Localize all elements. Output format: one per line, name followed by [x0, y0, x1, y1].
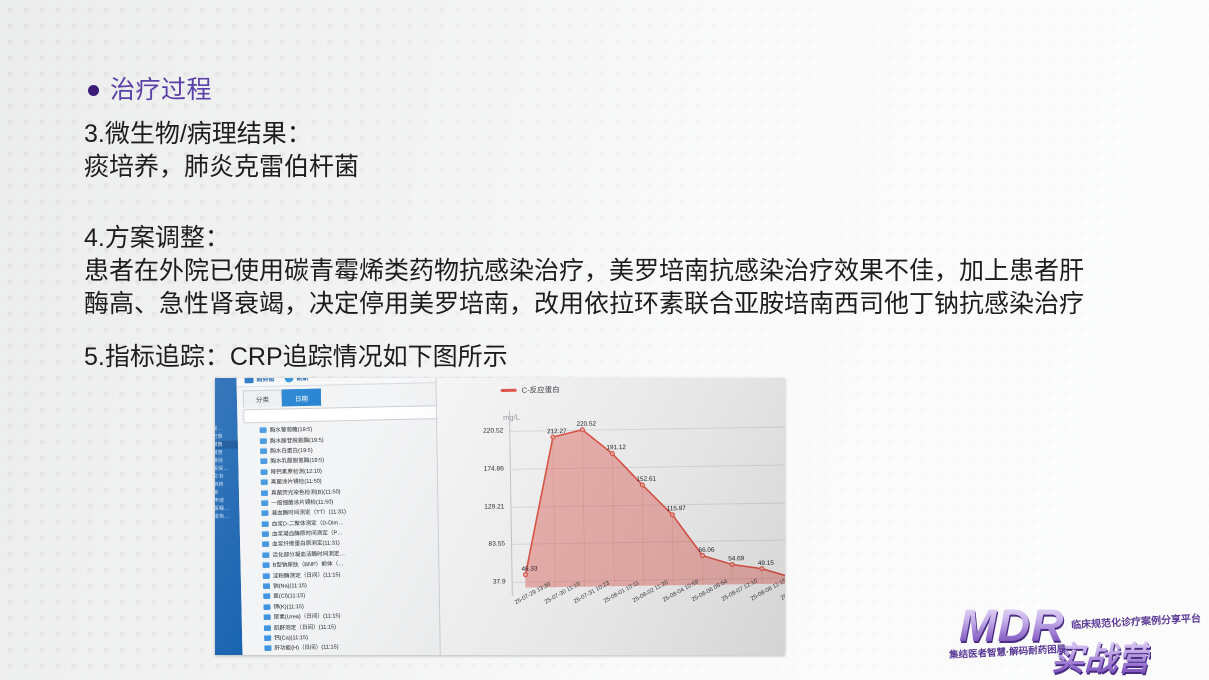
folder-icon	[262, 521, 269, 527]
logo-name-text: 实战营	[1051, 632, 1150, 680]
chart-plot-area: 37.983.55129.21174.86220.52 46.33212.272…	[509, 406, 785, 625]
tree-item-label: 真菌荧光染色检测(B)(11:50)	[271, 487, 341, 497]
folder-icon	[263, 593, 270, 599]
data-label: 49.15	[758, 559, 774, 566]
legend-line-icon	[501, 389, 517, 392]
folder-icon	[261, 489, 268, 495]
data-label: 66.06	[698, 546, 714, 553]
tree-item-label: 钠(Na)(11:15)	[273, 581, 307, 590]
tree-item-label: 尿素(Urea)（日间）(11:15)	[274, 612, 341, 621]
y-axis: 37.983.55129.21174.86220.52	[469, 411, 510, 597]
tree-item-label: 淀粉酶测定（日间）(11:15)	[273, 570, 341, 579]
tree-item-label: 血浆D-二聚体测定（D-Dim…	[272, 518, 344, 528]
tree-item-label: 降钙素原检测(12:10)	[270, 466, 321, 475]
tree-item-label: 胸水白蛋白(19:5)	[270, 446, 313, 455]
tree-item-label: 肝功能(H)（日间）(11:15)	[274, 643, 338, 652]
data-label: 54.69	[728, 555, 744, 562]
folder-icon	[264, 614, 271, 620]
folder-icon	[264, 624, 271, 630]
trend-chart-button[interactable]: 趋势图	[244, 378, 274, 383]
section-3-micro-pathology: 3.微生物/病理结果： 痰培养，肺炎克雷伯杆菌	[84, 118, 359, 184]
tree-item-label: 胸水葡萄糖(19:5)	[270, 425, 313, 434]
data-label: 220.52	[576, 421, 596, 428]
folder-icon	[262, 531, 269, 537]
section-4-regimen-adjustment: 4.方案调整： 患者在外院已使用碳青霉烯类药物抗感染治疗，美罗培南抗感染治疗效果…	[84, 222, 1084, 321]
x-axis-labels: 25-07-29 13:3025-07-30 11:1925-07-31 10:…	[512, 594, 785, 639]
folder-icon	[260, 469, 267, 475]
folder-icon	[260, 437, 267, 443]
data-label: 115.97	[667, 506, 686, 513]
folder-icon	[261, 479, 268, 485]
tree-item-label: 氯(Cl)(11:15)	[273, 592, 305, 601]
folder-icon	[260, 448, 267, 454]
tree-item-label: 真菌涂片镜检(11:50)	[271, 477, 322, 486]
tab-category[interactable]: 分类	[243, 390, 282, 408]
refresh-icon	[284, 378, 293, 382]
y-axis-tick: 83.55	[488, 541, 505, 548]
tree-item-label: 凝血酶时间测定（TT）(11:31)	[271, 507, 346, 517]
tree-item-label: 一般细菌涂片镜检(11:50)	[271, 497, 333, 506]
folder-icon	[260, 427, 267, 433]
chart-icon	[244, 378, 253, 383]
tree-item-label: 心肌酶谱(天冬 AST)(11:15)	[275, 653, 342, 655]
tab-date[interactable]: 日期	[282, 389, 321, 407]
y-axis-tick: 174.86	[484, 465, 504, 472]
folder-icon	[264, 635, 271, 641]
y-axis-tick: 129.21	[484, 503, 504, 510]
data-label: 191.12	[606, 444, 626, 451]
folder-icon	[261, 510, 268, 516]
section-5-indicator-tracking: 5.指标追踪：CRP追踪情况如下图所示	[84, 341, 508, 374]
data-label: 152.61	[636, 476, 656, 483]
tree-item-label: 肌酐测定（日间）(11:15)	[274, 622, 336, 631]
folder-icon	[260, 458, 267, 464]
logo-tagline-right: 临床规范化诊疗案例分享平台	[1071, 610, 1202, 632]
tree-item-label: 血浆纤维蛋白原测定(11:31)	[272, 539, 340, 548]
y-axis-tick: 220.52	[483, 427, 503, 434]
section-heading: 治疗过程	[88, 78, 212, 103]
nav-item[interactable]: 病青报告…	[215, 512, 240, 521]
bullet-icon	[88, 85, 99, 96]
lis-screen-photo: 患者…信息医嘱病历诊断血常规…护理记录检验报告检查报告临床路径患者医保…护理文书…	[215, 378, 785, 655]
y-axis-tick: 37.9	[493, 578, 506, 585]
data-label: 212.27	[547, 428, 567, 435]
folder-icon	[263, 604, 270, 610]
legend-label: C-反应蛋白	[522, 384, 560, 396]
folder-icon	[263, 572, 270, 578]
folder-icon	[263, 562, 270, 568]
tree-item-label: 血浆凝血酶原时间测定（P…	[272, 528, 343, 538]
tree-item-label: 胸水乳酸脱氢酶(19:5)	[270, 456, 324, 465]
folder-icon	[263, 583, 270, 589]
data-label: 46.33	[521, 565, 537, 572]
chart-legend: C-反应蛋白	[501, 380, 785, 396]
folder-icon	[262, 552, 269, 558]
folder-icon	[264, 645, 271, 651]
refresh-button[interactable]: 刷新	[284, 378, 308, 382]
tree-item-label: 钾(K)(11:15)	[273, 602, 304, 611]
mdr-logo: MDR 临床规范化诊疗案例分享平台 实战营 集结医者智慧·解码耐药困局	[943, 596, 1201, 674]
folder-icon	[262, 541, 269, 547]
tree-item-label: 活化部分凝血活酶时间测定…	[272, 549, 345, 559]
tree-item-label: 钙(Ca)(11:15)	[274, 633, 308, 642]
folder-icon	[261, 500, 268, 506]
crp-trend-chart: C-反应蛋白 mg/L 37.983.55129.21174.86220.52 …	[435, 378, 785, 655]
heading-text: 治疗过程	[110, 78, 212, 103]
tree-item-label: 胸水腺苷脱氨酶(19:5)	[270, 435, 324, 444]
tree-item-label: B型钠尿肽（BNP）前体（…	[272, 559, 343, 569]
